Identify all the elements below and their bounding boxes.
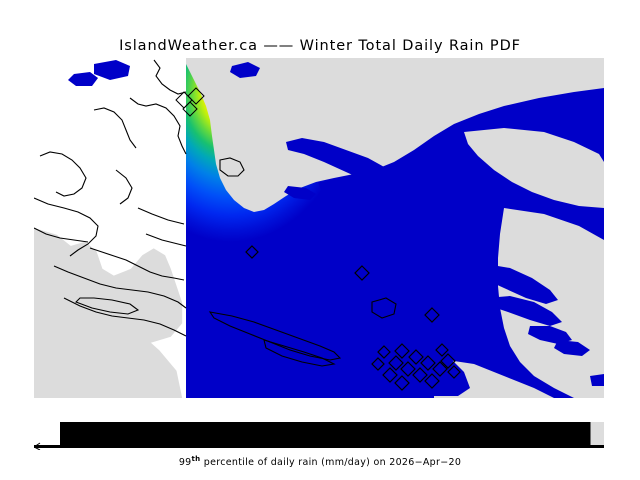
map-panel[interactable] (34, 58, 604, 398)
colorbar-caption: 99th percentile of daily rain (mm/day) o… (0, 455, 640, 468)
colorbar-min-arrow-icon (34, 442, 60, 450)
caption-text: percentile of daily rain (mm/day) on 202… (200, 457, 461, 468)
page-title: IslandWeather.ca —— Winter Total Daily R… (0, 38, 640, 54)
colorbar-baseline (34, 445, 604, 448)
rain-raster-layer (186, 58, 604, 398)
rain-raster-field (186, 58, 604, 398)
caption-percentile: 99 (179, 457, 192, 468)
colorbar-container[interactable] (34, 422, 604, 448)
rain-colorbar[interactable] (60, 422, 604, 446)
